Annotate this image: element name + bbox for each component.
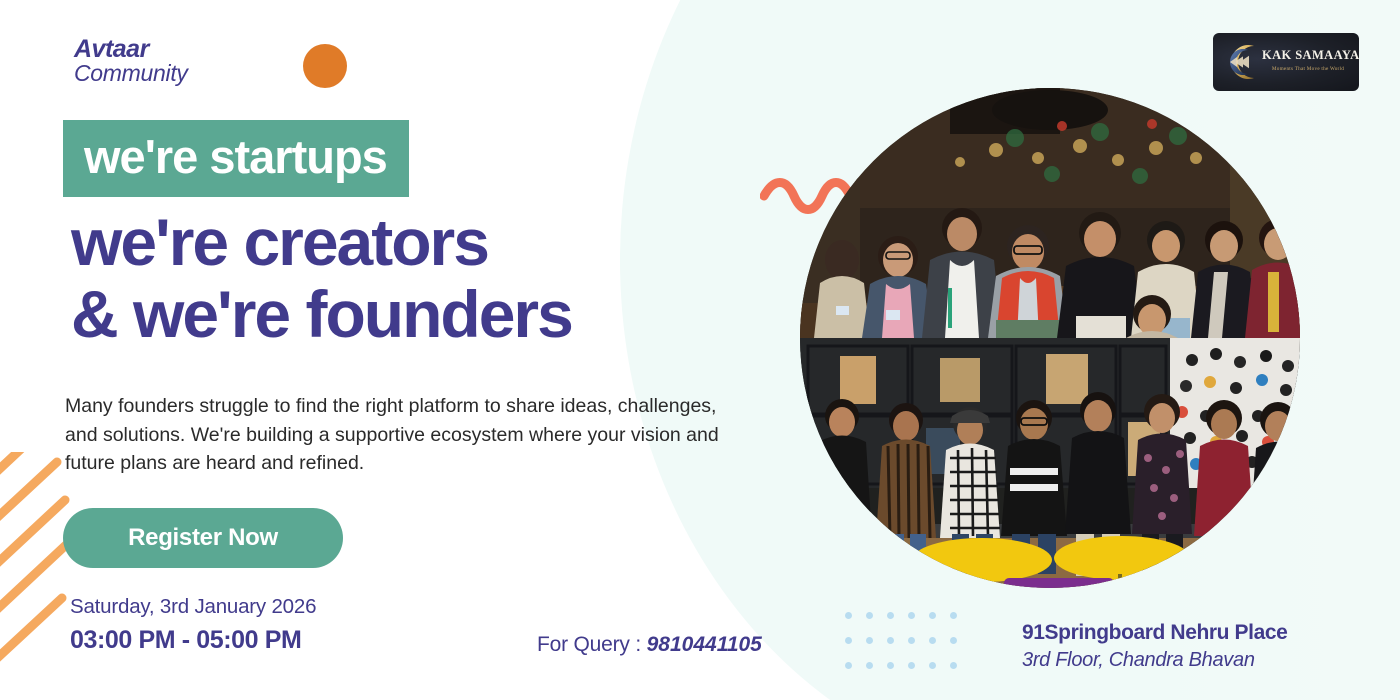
brand-logo[interactable]: Avtaar Community xyxy=(74,36,188,86)
event-time: 03:00 PM - 05:00 PM xyxy=(70,627,316,655)
query-contact: For Query : 9810441105 xyxy=(537,633,762,657)
description-paragraph: Many founders struggle to find the right… xyxy=(65,392,745,478)
orange-dot-icon xyxy=(303,44,347,88)
headline-block: we're startups we're creators & we're fo… xyxy=(63,120,572,349)
headline-chip: we're startups xyxy=(63,120,409,197)
register-now-button[interactable]: Register Now xyxy=(63,508,343,568)
query-phone-number[interactable]: 9810441105 xyxy=(647,633,762,656)
venue-address: 3rd Floor, Chandra Bhavan xyxy=(1022,648,1287,672)
event-photo-bottom xyxy=(800,338,1300,588)
sponsor-name: KAK SAMAAYA xyxy=(1262,49,1354,62)
sponsor-logo-card[interactable]: KAK SAMAAYA Moments That Move the World xyxy=(1213,33,1359,91)
sponsor-tagline: Moments That Move the World xyxy=(1262,66,1354,72)
event-datetime: Saturday, 3rd January 2026 03:00 PM - 05… xyxy=(70,594,316,654)
query-label: For Query : xyxy=(537,633,647,656)
brand-subtitle: Community xyxy=(74,61,188,86)
event-banner: Avtaar Community KAK SAMAAYA M xyxy=(0,0,1400,700)
event-date: Saturday, 3rd January 2026 xyxy=(70,594,316,620)
headline-line-2: we're creators xyxy=(71,209,572,277)
event-photo-circle xyxy=(800,88,1300,588)
dot-grid-decoration xyxy=(845,612,971,687)
venue-name: 91Springboard Nehru Place xyxy=(1022,620,1287,646)
venue-block: 91Springboard Nehru Place 3rd Floor, Cha… xyxy=(1022,620,1287,672)
crescent-icon xyxy=(1224,42,1264,82)
brand-name: Avtaar xyxy=(74,36,188,62)
event-photo-top xyxy=(800,88,1300,338)
headline-line-3: & we're founders xyxy=(71,281,572,349)
